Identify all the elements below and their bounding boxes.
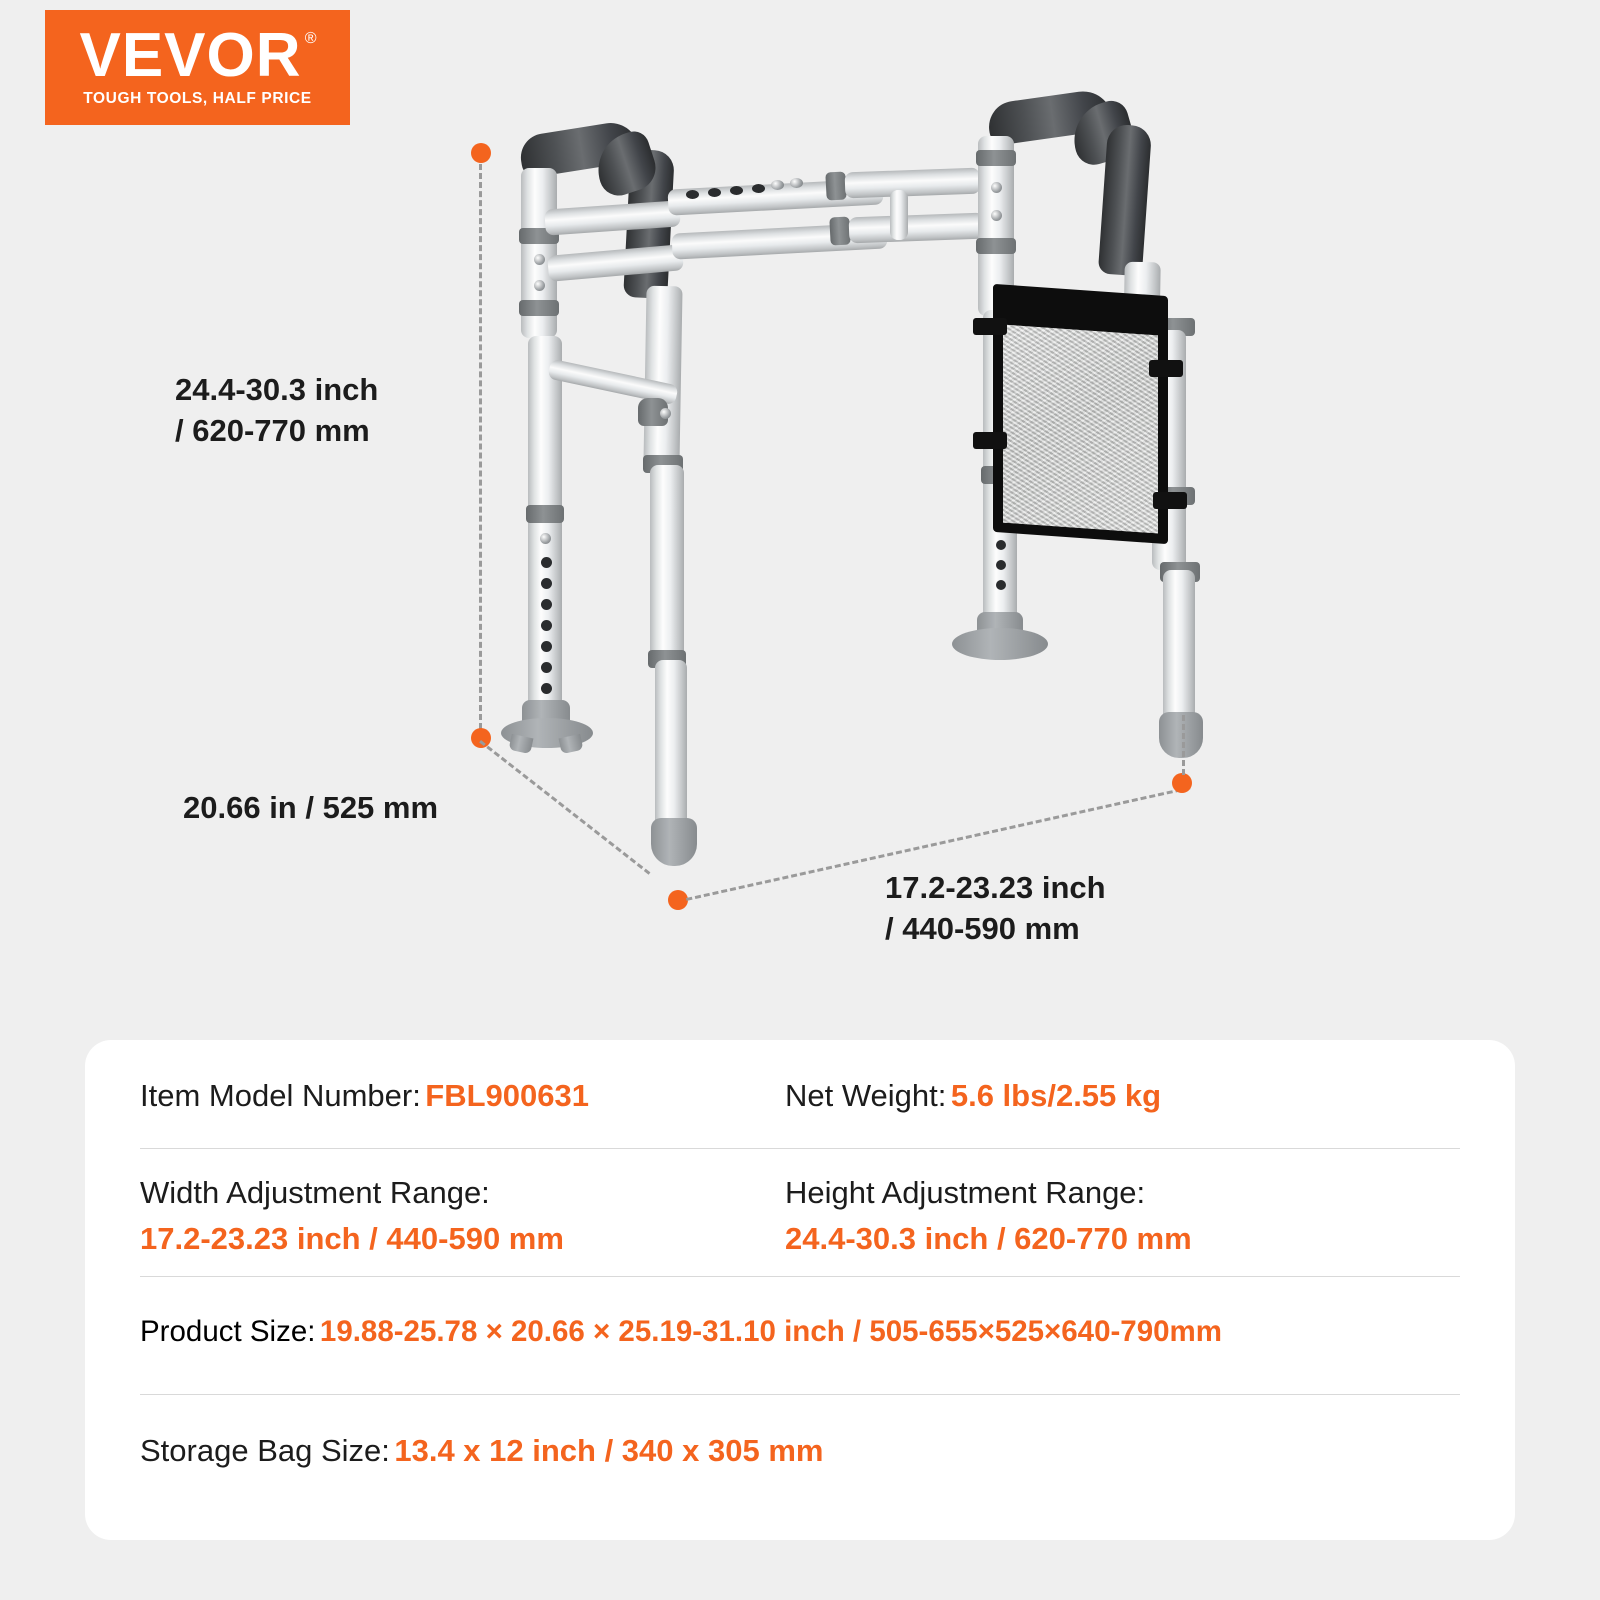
spec-product-size: Product Size: 19.88-25.78 × 20.66 × 25.1… xyxy=(140,1315,1460,1349)
width-screw-1 xyxy=(771,180,784,190)
upper-crossbar-right xyxy=(845,168,981,199)
spec-row-model-weight: Item Model Number: FBL900631 Net Weight:… xyxy=(140,1040,1460,1148)
height-hole-7 xyxy=(541,683,552,694)
spec-row-product-size: Product Size: 19.88-25.78 × 20.66 × 25.1… xyxy=(140,1276,1460,1394)
spec-bag-size: Storage Bag Size: 13.4 x 12 inch / 340 x… xyxy=(140,1433,1460,1469)
storage-bag-strap-top-left xyxy=(973,318,1007,335)
rear-right-foot-base xyxy=(952,628,1048,660)
front-right-foot-tip xyxy=(1159,712,1203,758)
rear-right-collar-top xyxy=(976,150,1016,166)
spec-width-range: Width Adjustment Range: 17.2-23.23 inch … xyxy=(140,1175,785,1257)
depth-dimension-dot xyxy=(668,890,688,910)
rear-right-screw-2 xyxy=(991,210,1002,221)
lower-crossbar-collar xyxy=(829,216,850,245)
height-dimension-label: 24.4-30.3 inch / 620-770 mm xyxy=(175,370,378,452)
spec-bag-size-label: Storage Bag Size: xyxy=(140,1433,390,1468)
folding-brace-screw xyxy=(660,408,671,419)
height-hole-5 xyxy=(541,641,552,652)
height-hole-2 xyxy=(541,578,552,589)
rear-right-height-hole-3 xyxy=(996,540,1006,550)
spec-weight-value: 5.6 lbs/2.55 kg xyxy=(951,1078,1161,1113)
rear-left-collar-upper xyxy=(519,300,559,316)
upper-crossbar-collar xyxy=(825,171,846,200)
walker-illustration xyxy=(0,0,1600,1010)
spec-product-size-label: Product Size: xyxy=(140,1315,315,1348)
rear-left-screw-1 xyxy=(534,254,545,265)
rear-left-foot-lip xyxy=(509,734,534,754)
product-diagram: 24.4-30.3 inch / 620-770 mm 20.66 in / 5… xyxy=(0,0,1600,1010)
height-dimension-dot-top xyxy=(471,143,491,163)
spec-product-size-value: 19.88-25.78 × 20.66 × 25.19-31.10 inch /… xyxy=(320,1315,1222,1348)
spec-bag-size-value: 13.4 x 12 inch / 340 x 305 mm xyxy=(394,1433,823,1468)
spec-height-range: Height Adjustment Range: 24.4-30.3 inch … xyxy=(785,1175,1460,1257)
rear-left-foot-lip-2 xyxy=(559,734,584,754)
rear-left-height-screw xyxy=(540,533,551,544)
depth-dimension-label: 20.66 in / 525 mm xyxy=(183,788,438,829)
spec-model-label: Item Model Number: xyxy=(140,1078,421,1113)
storage-bag-strap-top-right xyxy=(1149,360,1183,377)
spec-height-range-value: 24.4-30.3 inch / 620-770 mm xyxy=(785,1221,1460,1257)
spec-weight-label: Net Weight: xyxy=(785,1078,946,1113)
spec-row-bag-size: Storage Bag Size: 13.4 x 12 inch / 340 x… xyxy=(140,1394,1460,1506)
spec-height-range-label: Height Adjustment Range: xyxy=(785,1175,1460,1211)
height-hole-1 xyxy=(541,557,552,568)
spec-width-range-label: Width Adjustment Range: xyxy=(140,1175,785,1211)
spec-row-adjustment-ranges: Width Adjustment Range: 17.2-23.23 inch … xyxy=(140,1148,1460,1276)
storage-bag-strap-bottom-right xyxy=(1153,492,1187,509)
rear-left-screw-2 xyxy=(534,280,545,291)
storage-bag-mesh-panel xyxy=(1003,325,1158,534)
spec-weight: Net Weight: 5.6 lbs/2.55 kg xyxy=(785,1078,1460,1114)
rear-right-collar-mid xyxy=(976,238,1016,254)
storage-bag-strap-bottom-left xyxy=(973,432,1007,449)
spec-model: Item Model Number: FBL900631 xyxy=(140,1078,785,1114)
width-hole-4 xyxy=(752,184,765,193)
rear-right-screw-1 xyxy=(991,182,1002,193)
spec-width-range-value: 17.2-23.23 inch / 440-590 mm xyxy=(140,1221,785,1257)
rear-left-collar-mid xyxy=(526,505,564,523)
height-dimension-line xyxy=(479,155,482,738)
right-handle-grip-vertical xyxy=(1098,124,1152,277)
width-hole-2 xyxy=(708,188,721,197)
width-dimension-label: 17.2-23.23 inch / 440-590 mm xyxy=(885,868,1106,950)
width-dimension-dot xyxy=(1172,773,1192,793)
rear-right-height-hole-4 xyxy=(996,560,1006,570)
height-hole-3 xyxy=(541,599,552,610)
height-hole-4 xyxy=(541,620,552,631)
width-dimension-riser xyxy=(1182,715,1185,775)
height-hole-6 xyxy=(541,662,552,673)
front-left-lower-tube xyxy=(650,465,684,665)
lower-crossbar-right xyxy=(849,213,985,244)
crossbar-connector xyxy=(890,190,908,240)
width-hole-1 xyxy=(686,190,699,199)
width-hole-3 xyxy=(730,186,743,195)
front-right-lower-tube xyxy=(1163,570,1195,730)
front-left-leg-tube xyxy=(643,286,682,467)
front-left-foot-tube xyxy=(655,660,687,828)
specifications-card: Item Model Number: FBL900631 Net Weight:… xyxy=(85,1040,1515,1540)
front-left-foot-tip xyxy=(651,818,697,866)
rear-right-height-hole-5 xyxy=(996,580,1006,590)
width-screw-2 xyxy=(790,178,803,188)
spec-model-value: FBL900631 xyxy=(425,1078,589,1113)
